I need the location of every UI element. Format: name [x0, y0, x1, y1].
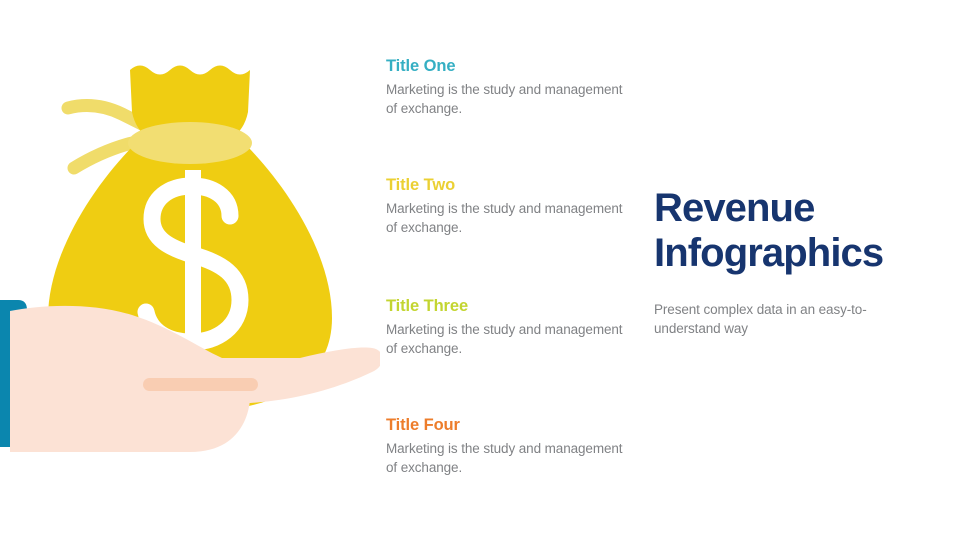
item-title-four-description: Marketing is the study and management of… — [386, 440, 636, 477]
page-title: RevenueInfographics — [654, 186, 944, 276]
list-item-title-three[interactable]: Title Three Marketing is the study and m… — [386, 297, 636, 358]
list-item-title-two[interactable]: Title Two Marketing is the study and man… — [386, 176, 636, 237]
item-title-four-heading: Title Four — [386, 416, 636, 434]
hand-lower-palm — [10, 398, 250, 452]
page-title-line-2: Infographics — [654, 231, 883, 275]
item-title-one-heading: Title One — [386, 57, 636, 75]
list-item-title-four[interactable]: Title Four Marketing is the study and ma… — [386, 416, 636, 477]
page-subtitle: Present complex data in an easy-to-under… — [654, 301, 909, 338]
item-title-two-heading: Title Two — [386, 176, 636, 194]
bag-tie-band — [128, 122, 252, 164]
hand-holding-money-bag-illustration — [0, 0, 380, 500]
item-title-one-description: Marketing is the study and management of… — [386, 81, 636, 118]
list-item-title-one[interactable]: Title One Marketing is the study and man… — [386, 57, 636, 118]
item-title-two-description: Marketing is the study and management of… — [386, 200, 636, 237]
item-title-three-description: Marketing is the study and management of… — [386, 321, 636, 358]
infographic-slide: Title One Marketing is the study and man… — [0, 0, 980, 551]
item-title-three-heading: Title Three — [386, 297, 636, 315]
page-title-line-1: Revenue — [654, 186, 814, 230]
feature-list: Title One Marketing is the study and man… — [386, 0, 636, 551]
finger-crease-line — [143, 378, 258, 391]
